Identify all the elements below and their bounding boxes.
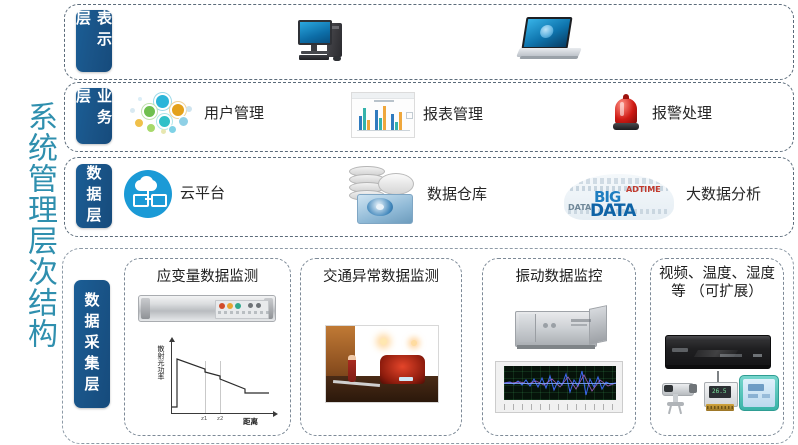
data-item-label: 数据仓库 [427,185,487,204]
bar-chart-report-icon [351,92,415,138]
card-title: 视频、温度、湿度等 （可扩展） [651,265,783,301]
layer-presentation [64,4,794,80]
bigdata-word-data: DATA [590,201,635,220]
business-item-user-management[interactable]: 用户管理 [128,92,266,136]
display-panel-icon [739,375,779,411]
dvr-recorder-icon [665,335,771,369]
data-item-data-warehouse[interactable]: 数据仓库 [345,164,487,226]
page-title: 系统管理层次结构 [2,52,54,397]
bigdata-word-small: DATA [568,203,591,212]
desktop-pc-icon [297,18,361,64]
vibration-acquisition-unit-icon [515,307,607,351]
data-item-cloud-platform[interactable]: 云平台 [124,170,225,218]
acquisition-card-vibration[interactable]: 振动数据监控 [482,258,636,436]
alarm-beacon-icon [608,92,644,136]
business-item-report-management[interactable]: 报表管理 [351,92,483,138]
big-data-cloud-icon: BIG DATA ADTIME DATA [560,162,678,228]
acquisition-card-traffic[interactable]: 交通异常数据监测 [300,258,462,436]
card-title: 振动数据监控 [483,268,635,286]
tunnel-incident-photo [325,325,439,403]
card-title: 交通异常数据监测 [301,268,461,286]
temp-humidity-sensor-icon: 26.5 [703,371,737,415]
data-item-label: 大数据分析 [686,185,761,204]
layer-badge-data: 数据层 [76,164,112,228]
database-disk-icon [345,164,419,226]
rack-analyzer-icon [138,295,276,322]
data-item-big-data-analysis[interactable]: BIG DATA ADTIME DATA 大数据分析 [560,162,761,228]
business-item-label: 报警处理 [652,104,712,123]
business-item-alarm-handling[interactable]: 报警处理 [608,92,712,136]
bigdata-word-adtime: ADTIME [626,185,661,194]
user-network-icon [128,92,196,136]
ptz-camera-icon [659,377,699,415]
business-item-label: 用户管理 [204,104,266,123]
layer-badge-business: 业务层 [76,88,112,144]
laptop-icon [516,17,586,65]
strain-chart-trace [137,337,282,425]
strain-chart: 散射光功率 距离 z1 z2 [137,337,282,425]
layer-badge-acquisition: 数据采集层 [74,280,110,408]
acquisition-card-strain[interactable]: 应变量数据监测 散射光功率 距离 z1 z2 [124,258,291,436]
business-item-label: 报表管理 [423,105,483,124]
vibration-waveform-display [495,361,623,413]
data-item-label: 云平台 [180,184,225,203]
acquisition-card-video-temp-humidity[interactable]: 视频、温度、湿度等 （可扩展） 26.5 [650,258,784,436]
cloud-platform-icon [124,170,172,218]
layer-badge-presentation: 表示层 [76,10,112,72]
card-title: 应变量数据监测 [125,268,290,286]
